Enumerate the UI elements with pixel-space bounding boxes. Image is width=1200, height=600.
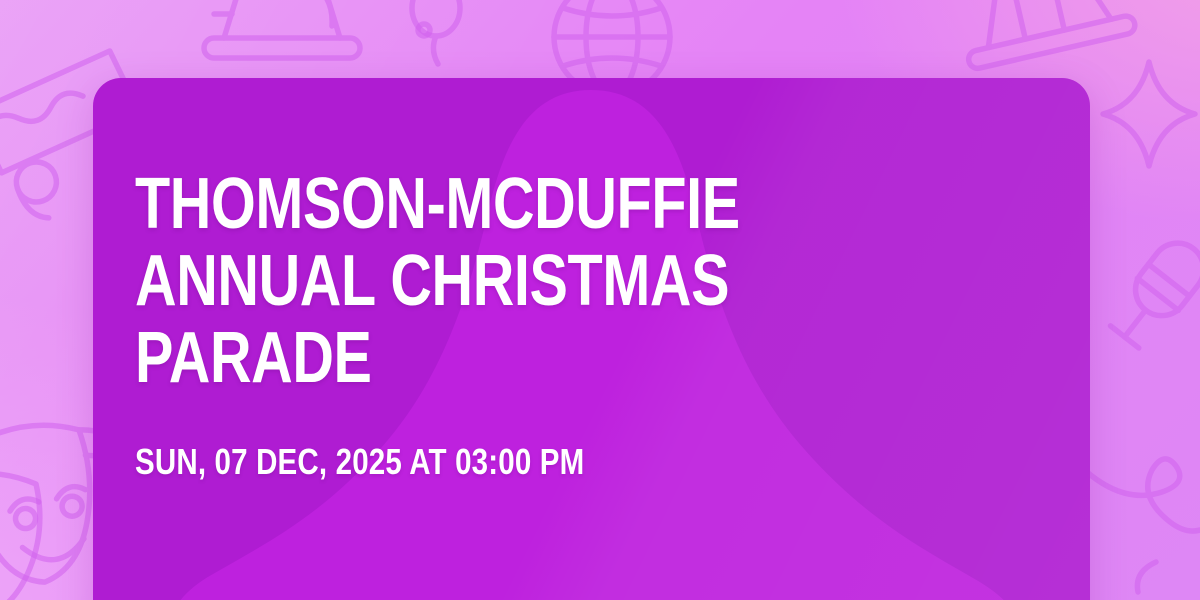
event-card[interactable]: Thomson-McDuffie Annual Christmas Parade… <box>93 78 1090 600</box>
event-card-content: Thomson-McDuffie Annual Christmas Parade… <box>93 78 1090 483</box>
event-title: Thomson-McDuffie Annual Christmas Parade <box>135 166 854 397</box>
event-datetime: Sun, 07 Dec, 2025 at 03:00 PM <box>135 441 872 483</box>
event-banner: Thomson-McDuffie Annual Christmas Parade… <box>0 0 1200 600</box>
